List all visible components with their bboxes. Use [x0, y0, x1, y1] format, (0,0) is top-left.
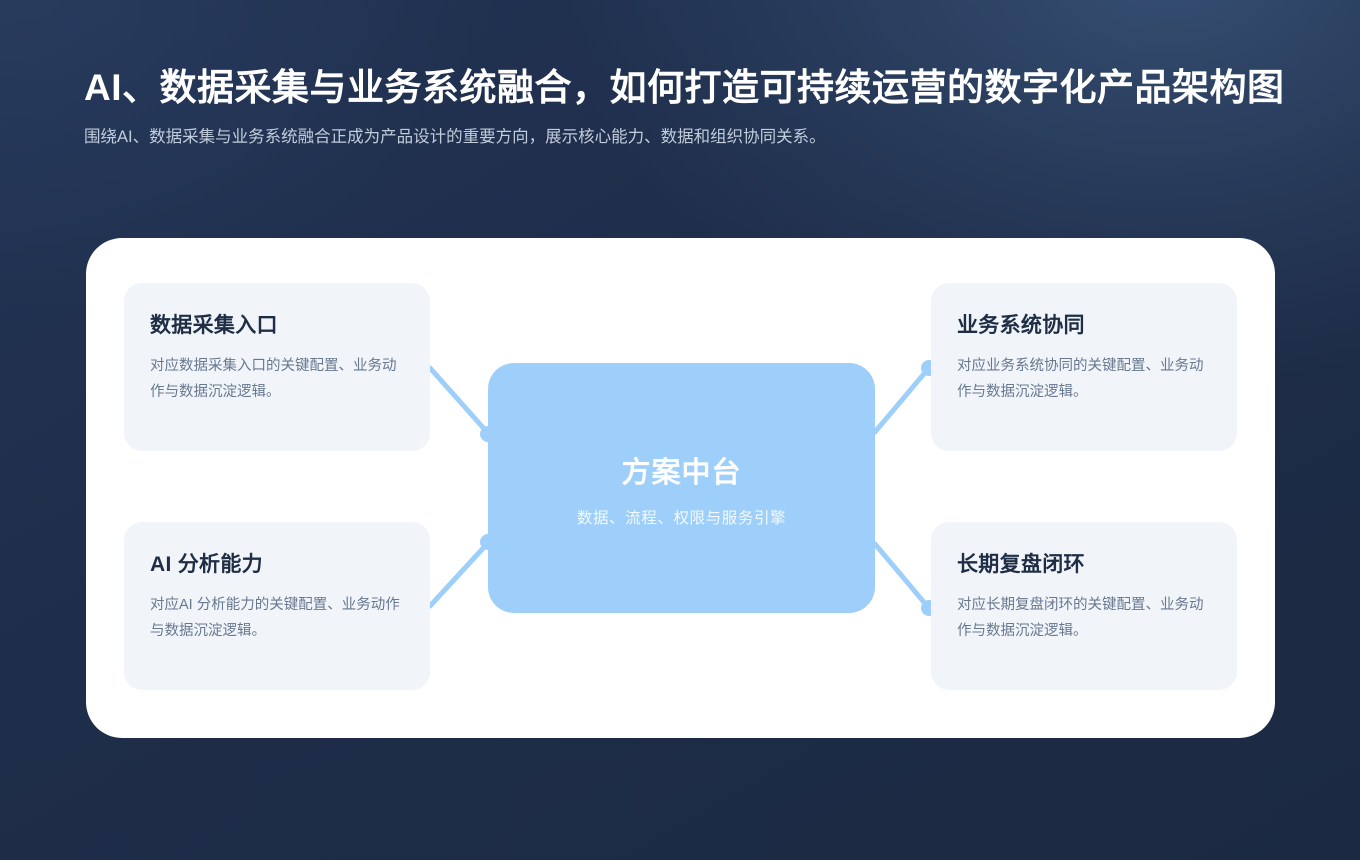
page-header: AI、数据采集与业务系统融合，如何打造可持续运营的数字化产品架构图 围绕AI、数…	[84, 66, 1360, 151]
node-card-long-term-review-loop[interactable]: 长期复盘闭环 对应长期复盘闭环的关键配置、业务动作与数据沉淀逻辑。	[931, 522, 1237, 690]
center-hub-subtitle: 数据、流程、权限与服务引擎	[577, 506, 786, 528]
node-description: 对应AI 分析能力的关键配置、业务动作与数据沉淀逻辑。	[150, 593, 404, 644]
node-title: 数据采集入口	[150, 313, 404, 338]
node-description: 对应业务系统协同的关键配置、业务动作与数据沉淀逻辑。	[957, 354, 1211, 405]
connector-line-bottom-right	[875, 544, 928, 607]
center-hub-node[interactable]: 方案中台 数据、流程、权限与服务引擎	[488, 363, 875, 613]
node-title: AI 分析能力	[150, 552, 404, 577]
page-title: AI、数据采集与业务系统融合，如何打造可持续运营的数字化产品架构图	[84, 66, 1360, 110]
node-title: 业务系统协同	[957, 313, 1211, 338]
node-card-business-system-collaboration[interactable]: 业务系统协同 对应业务系统协同的关键配置、业务动作与数据沉淀逻辑。	[931, 283, 1237, 451]
connector-line-top-right	[875, 369, 928, 432]
node-description: 对应数据采集入口的关键配置、业务动作与数据沉淀逻辑。	[150, 354, 404, 405]
node-description: 对应长期复盘闭环的关键配置、业务动作与数据沉淀逻辑。	[957, 593, 1211, 644]
node-card-ai-analysis-capability[interactable]: AI 分析能力 对应AI 分析能力的关键配置、业务动作与数据沉淀逻辑。	[124, 522, 430, 690]
node-title: 长期复盘闭环	[957, 552, 1211, 577]
center-hub-title: 方案中台	[621, 449, 741, 491]
node-card-data-collection-entry[interactable]: 数据采集入口 对应数据采集入口的关键配置、业务动作与数据沉淀逻辑。	[124, 283, 430, 451]
diagram-panel: 数据采集入口 对应数据采集入口的关键配置、业务动作与数据沉淀逻辑。 AI 分析能…	[86, 238, 1275, 738]
connector-line-bottom-left	[430, 544, 487, 606]
page-subtitle: 围绕AI、数据采集与业务系统融合正成为产品设计的重要方向，展示核心能力、数据和组…	[84, 123, 826, 151]
connector-line-top-left	[430, 368, 487, 432]
